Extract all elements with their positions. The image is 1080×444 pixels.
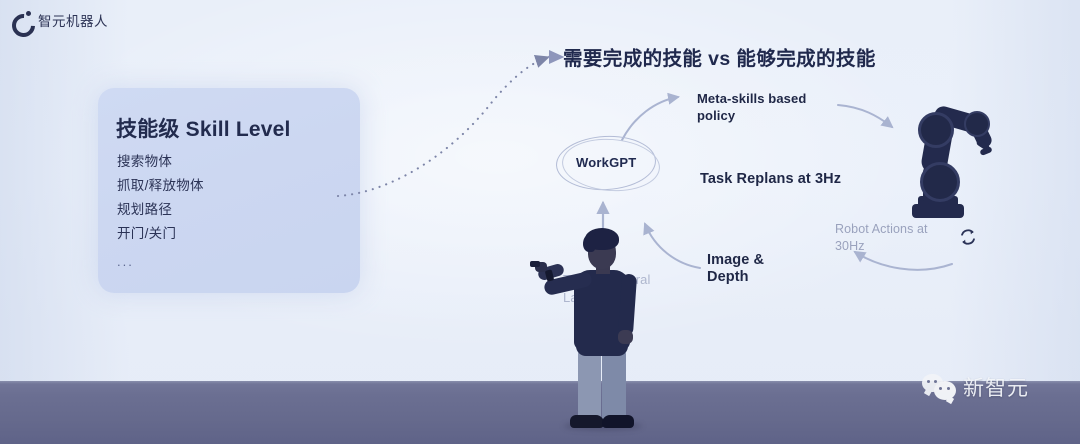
task-replans-label: Task Replans at 3Hz: [700, 171, 841, 188]
meta-skills-line-2: policy: [697, 107, 806, 124]
robot-actions-line-2: 30Hz: [835, 238, 928, 255]
wechat-watermark: 新智元: [922, 372, 1029, 402]
wechat-icon: [922, 374, 956, 400]
brand-logo: 智元机器人: [12, 10, 108, 30]
presentation-clicker-icon: [530, 261, 540, 267]
presenter-figure: [536, 222, 662, 428]
skill-level-card: 技能级 Skill Level 搜索物体 抓取/释放物体 规划路径 开门/关门 …: [98, 88, 360, 293]
image-depth-label: Image & Depth: [707, 252, 764, 286]
robot-arm-icon: [890, 104, 1000, 228]
meta-skills-policy-label: Meta-skills based policy: [697, 90, 806, 124]
list-item: 规划路径: [117, 198, 204, 222]
screenshot-root: 智元机器人 技能级 Skill Level 搜索物体 抓取/释放物体 规划路径 …: [0, 0, 1080, 444]
dotted-pointer-arrow: [338, 58, 546, 196]
arrow-metaskills-to-robot: [838, 105, 892, 127]
list-item: 开门/关门: [117, 222, 204, 246]
image-depth-line-2: Depth: [707, 269, 764, 286]
arrow-workgpt-to-metaskills: [622, 97, 678, 140]
brand-name: 智元机器人: [38, 10, 108, 30]
list-item: 抓取/释放物体: [117, 174, 204, 198]
refresh-cycle-icon: [957, 226, 979, 248]
skill-card-title: 技能级 Skill Level: [116, 113, 291, 143]
skill-card-list: 搜索物体 抓取/释放物体 规划路径 开门/关门 ...: [117, 150, 204, 274]
image-depth-line-1: Image &: [707, 252, 764, 269]
list-item-ellipsis: ...: [117, 246, 204, 274]
workgpt-node-label: WorkGPT: [576, 154, 636, 171]
page-title: 需要完成的技能 vs 能够完成的技能: [563, 42, 876, 71]
aiyuan-logo-icon: [12, 11, 31, 30]
watermark-text: 新智元: [963, 372, 1029, 402]
meta-skills-line-1: Meta-skills based: [697, 90, 806, 107]
list-item: 搜索物体: [117, 150, 204, 174]
